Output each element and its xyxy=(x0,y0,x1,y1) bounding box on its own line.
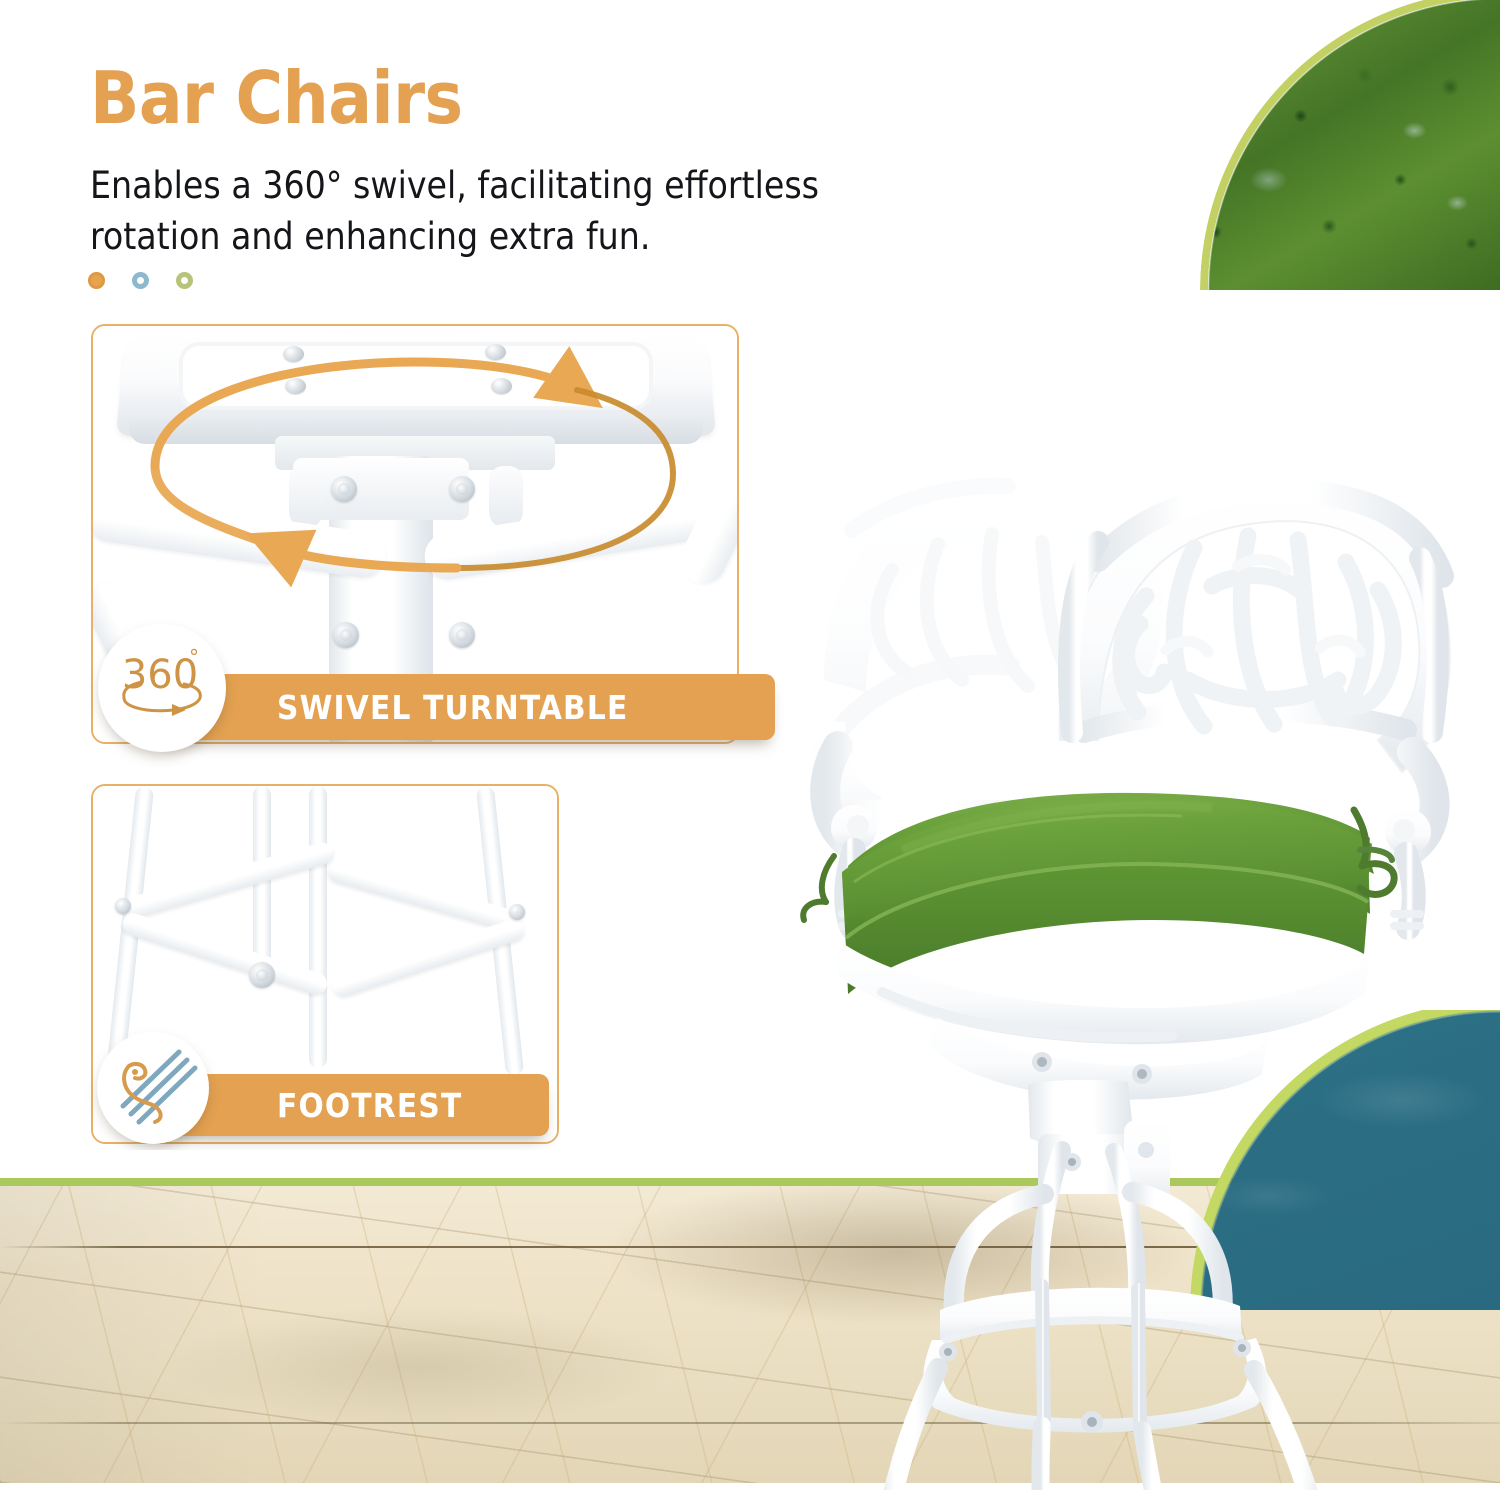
dot-blue[interactable] xyxy=(132,272,149,289)
product-image-bar-chair xyxy=(742,380,1462,1490)
badge-360-swivel: 360 ° xyxy=(98,624,226,752)
bar-chair-illustration xyxy=(742,380,1462,1490)
swivel-stop-pin xyxy=(289,466,323,528)
seat-bolt xyxy=(485,344,506,360)
tree-canopy-photo xyxy=(1144,0,1500,290)
footrest-screw xyxy=(509,904,525,920)
badge-degree-symbol: ° xyxy=(189,645,199,669)
chair-base xyxy=(867,1150,1344,1490)
page-title: Bar Chairs xyxy=(90,62,463,134)
swivel-screw xyxy=(331,476,357,502)
callout-panel-footrest: FOOTREST xyxy=(91,784,559,1144)
swivel-banner: SWIVEL TURNTABLE xyxy=(157,674,775,740)
swivel-screw xyxy=(449,476,475,502)
dot-olive[interactable] xyxy=(176,272,193,289)
chair-leg xyxy=(309,786,327,1068)
seat-bolt xyxy=(491,378,512,394)
page-subtitle: Enables a 360° swivel, facilitating effo… xyxy=(90,160,850,262)
seat-bolt xyxy=(285,378,306,394)
footrest-rail xyxy=(126,840,336,920)
dot-orange-active[interactable] xyxy=(88,272,105,289)
footrest-screw xyxy=(249,962,275,988)
swivel-screw xyxy=(449,622,475,648)
swivel-screw xyxy=(333,622,359,648)
callout-panel-swivel: SWIVEL TURNTABLE 360 ° xyxy=(91,324,739,744)
footrest-rail xyxy=(120,911,330,998)
badge-360-text: 360 xyxy=(122,652,198,698)
footrest-banner-label: FOOTREST xyxy=(277,1086,462,1125)
seat-slab-inner xyxy=(179,342,653,410)
carousel-dots xyxy=(88,272,193,289)
patio-shadow xyxy=(160,1306,680,1426)
swivel-stop-pin xyxy=(489,466,523,528)
foot-on-rail-icon xyxy=(105,1040,201,1136)
swivel-banner-label: SWIVEL TURNTABLE xyxy=(277,688,628,727)
cushion-tie-strap-left xyxy=(803,856,834,920)
footrest-screw xyxy=(115,898,131,914)
tree-photo-foliage xyxy=(1144,0,1500,290)
rotation-orbit-icon: 360 ° xyxy=(106,632,218,744)
footrest-banner: FOOTREST xyxy=(149,1074,549,1136)
footrest-ring xyxy=(923,1286,1266,1433)
seat-frame xyxy=(838,940,1368,1100)
seat-bolt xyxy=(283,346,304,362)
badge-footrest xyxy=(97,1032,209,1144)
